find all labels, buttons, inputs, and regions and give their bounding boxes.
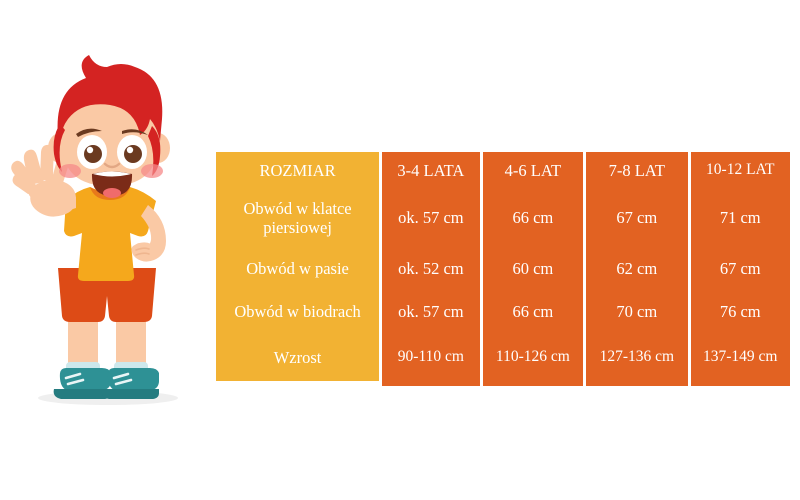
column-header: 10-12 LAT (691, 152, 790, 189)
column-header: 4-6 LAT (483, 152, 583, 189)
table-header-rozmiar: ROZMIAR (216, 152, 379, 189)
cell-hips: 66 cm (483, 290, 583, 334)
cell-chest: 71 cm (691, 189, 790, 247)
sneakers (54, 368, 159, 399)
cell-waist: ok. 52 cm (382, 247, 479, 290)
cell-waist: 67 cm (691, 247, 790, 290)
table-column-4-6-lat: 4-6 LAT 66 cm 60 cm 66 cm 110-126 cm (483, 152, 583, 386)
column-header: 3-4 LATA (382, 152, 479, 189)
table-column-labels: ROZMIAR Obwód w klatce piersiowej Obwód … (216, 152, 379, 381)
size-chart-page: ROZMIAR Obwód w klatce piersiowej Obwód … (0, 0, 800, 500)
row-label-waist: Obwód w pasie (216, 247, 379, 290)
tshirt (64, 187, 156, 281)
cell-chest: 67 cm (586, 189, 687, 247)
table-column-3-4-lata: 3-4 LATA ok. 57 cm ok. 52 cm ok. 57 cm 9… (382, 152, 479, 386)
cell-waist: 60 cm (483, 247, 583, 290)
waving-boy-illustration (0, 40, 220, 440)
row-label-height: Wzrost (216, 334, 379, 381)
cell-chest: 66 cm (483, 189, 583, 247)
table-column-7-8-lat: 7-8 LAT 67 cm 62 cm 70 cm 127-136 cm (586, 152, 687, 386)
cell-height: 137-149 cm (691, 334, 790, 381)
row-label-chest: Obwód w klatce piersiowej (216, 189, 379, 247)
cell-chest: ok. 57 cm (382, 189, 479, 247)
column-header: 7-8 LAT (586, 152, 687, 189)
cell-waist: 62 cm (586, 247, 687, 290)
cell-hips: 70 cm (586, 290, 687, 334)
cell-hips: 76 cm (691, 290, 790, 334)
row-label-hips: Obwód w biodrach (216, 290, 379, 334)
cell-height: 127-136 cm (586, 334, 687, 381)
size-chart-table: ROZMIAR Obwód w klatce piersiowej Obwód … (216, 152, 790, 381)
table-column-10-12-lat: 10-12 LAT 71 cm 67 cm 76 cm 137-149 cm (691, 152, 790, 386)
cell-height: 110-126 cm (483, 334, 583, 381)
cell-height: 90-110 cm (382, 334, 479, 381)
cell-hips: ok. 57 cm (382, 290, 479, 334)
